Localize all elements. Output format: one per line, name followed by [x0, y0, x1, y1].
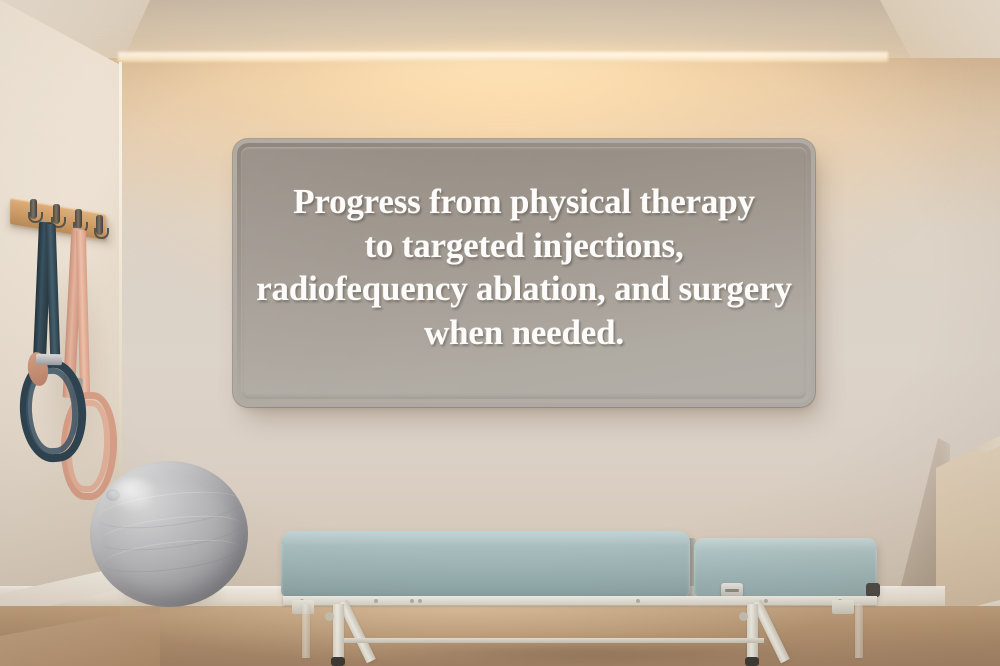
table-hinge-right — [739, 612, 748, 621]
table-leg-rear-left — [302, 604, 310, 658]
room-photo-scene: Progress from physical therapy to target… — [0, 0, 1000, 666]
table-leg-rear-right — [855, 604, 863, 658]
table-cross-stretcher — [344, 638, 764, 643]
treatment-table-main-pad-top — [281, 531, 690, 544]
rail-bolt — [410, 599, 414, 603]
cove-light-strip — [118, 52, 888, 62]
coat-hook-icon — [53, 204, 60, 224]
table-bracket-right — [832, 600, 854, 614]
coat-hook-icon — [30, 199, 37, 219]
treatment-table-head-pad-top — [694, 538, 877, 550]
coat-hook-icon — [96, 215, 103, 235]
coat-hook-icon — [75, 209, 82, 229]
treatment-table-latch-slot — [725, 589, 739, 592]
resistance-strap-buckle — [36, 354, 62, 365]
rail-bolt — [636, 599, 640, 603]
stability-ball-highlight — [112, 478, 158, 512]
table-foot-left — [331, 657, 345, 666]
sign-message-text: Progress from physical therapy to target… — [244, 180, 804, 354]
table-hinge-left — [325, 612, 334, 621]
treatment-table-rail — [283, 596, 877, 605]
table-foot-right — [745, 657, 759, 666]
treatment-table-end-cap — [866, 583, 880, 597]
rail-bolt — [764, 599, 768, 603]
rail-bolt — [418, 599, 422, 603]
rail-bolt — [374, 599, 378, 603]
